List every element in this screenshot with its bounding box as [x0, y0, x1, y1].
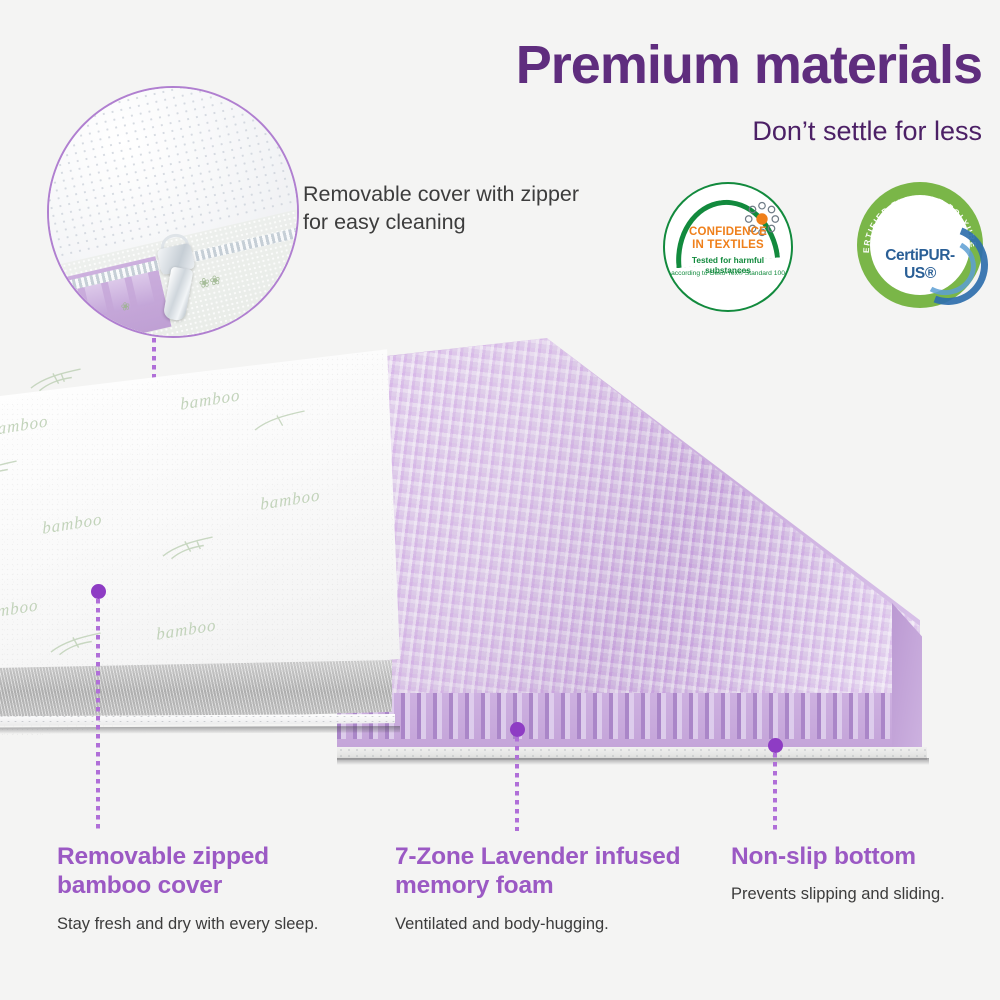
callout-dot-non-slip: [768, 738, 783, 753]
feature-caption: Ventilated and body-hugging.: [395, 914, 715, 935]
oeko-line-4: according to Oeko-Tex® Standard 100: [669, 270, 787, 278]
slab-drop-shadow: [337, 758, 929, 765]
foam-shading: [337, 338, 920, 738]
feature-columns: Removable zipped bamboo cover Stay fresh…: [0, 842, 1000, 962]
bamboo-cover: bamboo bamboo bamboo bamboo bamboo bambo…: [0, 342, 400, 742]
callout-dot-bamboo-cover: [91, 584, 106, 599]
zipper-detail-circle: ❀❀ ❀: [47, 86, 299, 338]
page-title: Premium materials: [0, 38, 982, 92]
feature-caption: Stay fresh and dry with every sleep.: [57, 914, 357, 935]
callout-removable-cover: Removable cover with zipper for easy cle…: [303, 180, 603, 237]
certipur-badge: CONTAINS CERTIFIED FLEXIBLE POLYURETHANE…: [857, 182, 983, 308]
oeko-tex-badge: CONFIDENCE IN TEXTILES Tested for harmfu…: [663, 182, 793, 312]
callout-dot-memory-foam: [510, 722, 525, 737]
feature-caption: Prevents slipping and sliding.: [731, 884, 981, 905]
memory-foam-slab: [337, 338, 920, 738]
connector-line-non-slip: [773, 753, 777, 831]
oeko-line-2: IN TEXTILES: [692, 239, 764, 251]
oeko-headline: CONFIDENCE IN TEXTILES: [665, 226, 791, 252]
certipur-wordmark: CertiPUR-US®: [870, 247, 970, 283]
feature-title: Removable zipped bamboo cover: [57, 842, 357, 901]
feature-memory-foam: 7-Zone Lavender infused memory foam Vent…: [395, 842, 715, 935]
connector-line-memory-foam: [515, 737, 519, 831]
infographic-canvas: Premium materials Don’t settle for less …: [0, 0, 1000, 1000]
foam-front-peaks: [337, 693, 920, 739]
certipur-inner-disc: CertiPUR-US®: [870, 195, 970, 295]
feature-title: Non-slip bottom: [731, 842, 981, 871]
certification-badges: CONFIDENCE IN TEXTILES Tested for harmfu…: [663, 182, 983, 310]
oeko-line-1: CONFIDENCE: [689, 226, 767, 238]
connector-line-bamboo-cover: [96, 599, 100, 831]
feature-non-slip: Non-slip bottom Prevents slipping and sl…: [731, 842, 981, 906]
mattress-illustration: bamboo bamboo bamboo bamboo bamboo bambo…: [0, 330, 1000, 780]
feature-title: 7-Zone Lavender infused memory foam: [395, 842, 715, 901]
feature-bamboo-cover: Removable zipped bamboo cover Stay fresh…: [57, 842, 357, 935]
